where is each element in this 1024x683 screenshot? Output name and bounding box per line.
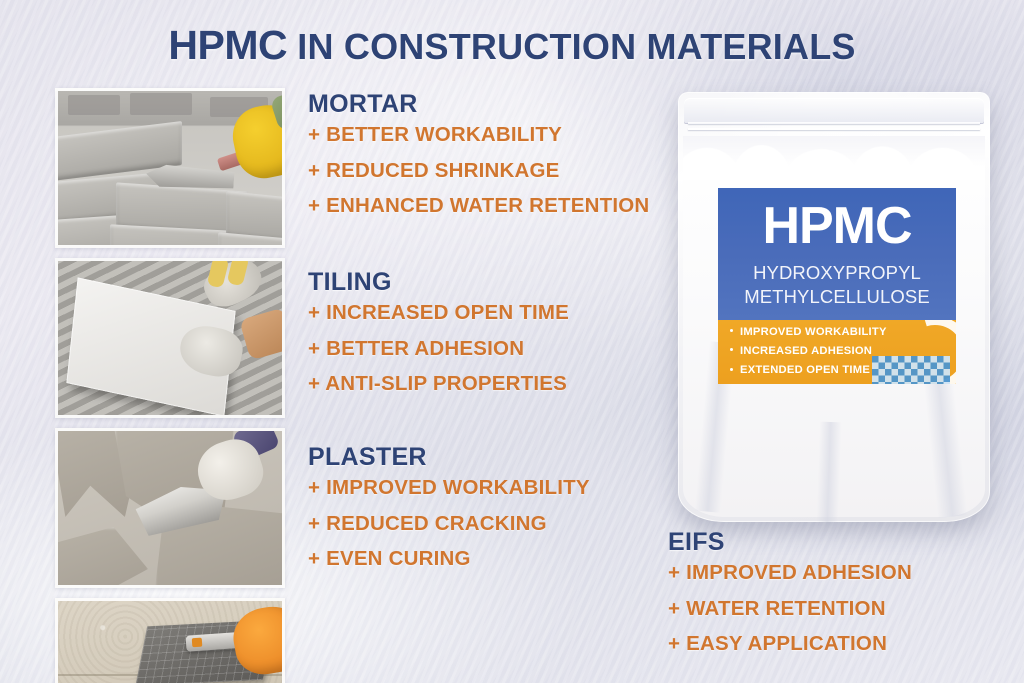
bag-benefit-text: IMPROVED WORKABILITY [740, 326, 887, 338]
bullet-dot-icon [730, 348, 733, 351]
bag-label-orange-panel: IMPROVED WORKABILITY INCREASED ADHESION … [718, 320, 956, 385]
plaster-application-photo [55, 428, 285, 588]
masonry-bricklaying-photo [55, 88, 285, 248]
section-heading-tiling: TILING [308, 268, 569, 297]
benefit-item: + REDUCED CRACKING [308, 514, 590, 535]
bag-benefit-text: EXTENDED OPEN TIME [740, 364, 870, 376]
section-plaster: PLASTER + IMPROVED WORKABILITY + REDUCED… [308, 443, 590, 585]
bag-benefit-item: IMPROVED WORKABILITY [730, 327, 946, 338]
section-tiling: TILING + INCREASED OPEN TIME + BETTER AD… [308, 268, 569, 410]
bag-chemical-line1: HYDROXYPROPYL [730, 262, 944, 284]
section-heading-plaster: PLASTER [308, 443, 590, 472]
bullet-dot-icon [730, 368, 733, 371]
eifs-float-photo [55, 598, 285, 683]
photo-column [55, 88, 285, 683]
section-mortar: MORTAR + BETTER WORKABILITY + REDUCED SH… [308, 90, 649, 232]
page-title: HPMC IN CONSTRUCTION MATERIALS [0, 22, 1024, 69]
tile-installation-photo [55, 258, 285, 418]
benefit-item: + ENHANCED WATER RETENTION [308, 196, 649, 217]
bag-label: HPMC HYDROXYPROPYL METHYLCELLULOSE IMPRO… [718, 188, 956, 384]
benefit-list-eifs: + IMPROVED ADHESION + WATER RETENTION + … [668, 563, 912, 655]
benefit-item: + BETTER ADHESION [308, 339, 569, 360]
benefit-item: + EVEN CURING [308, 549, 590, 570]
benefit-item: + IMPROVED WORKABILITY [308, 478, 590, 499]
page-title-rest: IN CONSTRUCTION MATERIALS [287, 26, 856, 67]
section-eifs: EIFS + IMPROVED ADHESION + WATER RETENTI… [668, 528, 912, 670]
benefit-list-plaster: + IMPROVED WORKABILITY + REDUCED CRACKIN… [308, 478, 590, 570]
bag-benefit-text: INCREASED ADHESION [740, 345, 872, 357]
bag-benefit-item: EXTENDED OPEN TIME [730, 365, 946, 376]
section-heading-mortar: MORTAR [308, 90, 649, 119]
section-heading-eifs: EIFS [668, 528, 912, 557]
benefit-item: + BETTER WORKABILITY [308, 125, 649, 146]
benefit-item: + REDUCED SHRINKAGE [308, 161, 649, 182]
bag-benefit-list: IMPROVED WORKABILITY INCREASED ADHESION … [730, 327, 946, 377]
bag-label-blue-panel: HPMC HYDROXYPROPYL METHYLCELLULOSE [718, 188, 956, 320]
benefit-item: + EASY APPLICATION [668, 634, 912, 655]
benefit-list-tiling: + INCREASED OPEN TIME + BETTER ADHESION … [308, 303, 569, 395]
bag-benefit-item: INCREASED ADHESION [730, 346, 946, 357]
benefit-item: + WATER RETENTION [668, 599, 912, 620]
bag-chemical-line2: METHYLCELLULOSE [730, 286, 944, 308]
powder-bag: HPMC HYDROXYPROPYL METHYLCELLULOSE IMPRO… [678, 92, 990, 522]
product-bag-photo: HPMC HYDROXYPROPYL METHYLCELLULOSE IMPRO… [660, 78, 1008, 530]
page-title-brand: HPMC [168, 22, 287, 68]
benefit-item: + ANTI-SLIP PROPERTIES [308, 374, 569, 395]
benefit-item: + INCREASED OPEN TIME [308, 303, 569, 324]
ziplock-seal [684, 98, 984, 124]
benefit-item: + IMPROVED ADHESION [668, 563, 912, 584]
bag-brand-text: HPMC [730, 202, 944, 252]
benefit-list-mortar: + BETTER WORKABILITY + REDUCED SHRINKAGE… [308, 125, 649, 217]
bullet-dot-icon [730, 329, 733, 332]
